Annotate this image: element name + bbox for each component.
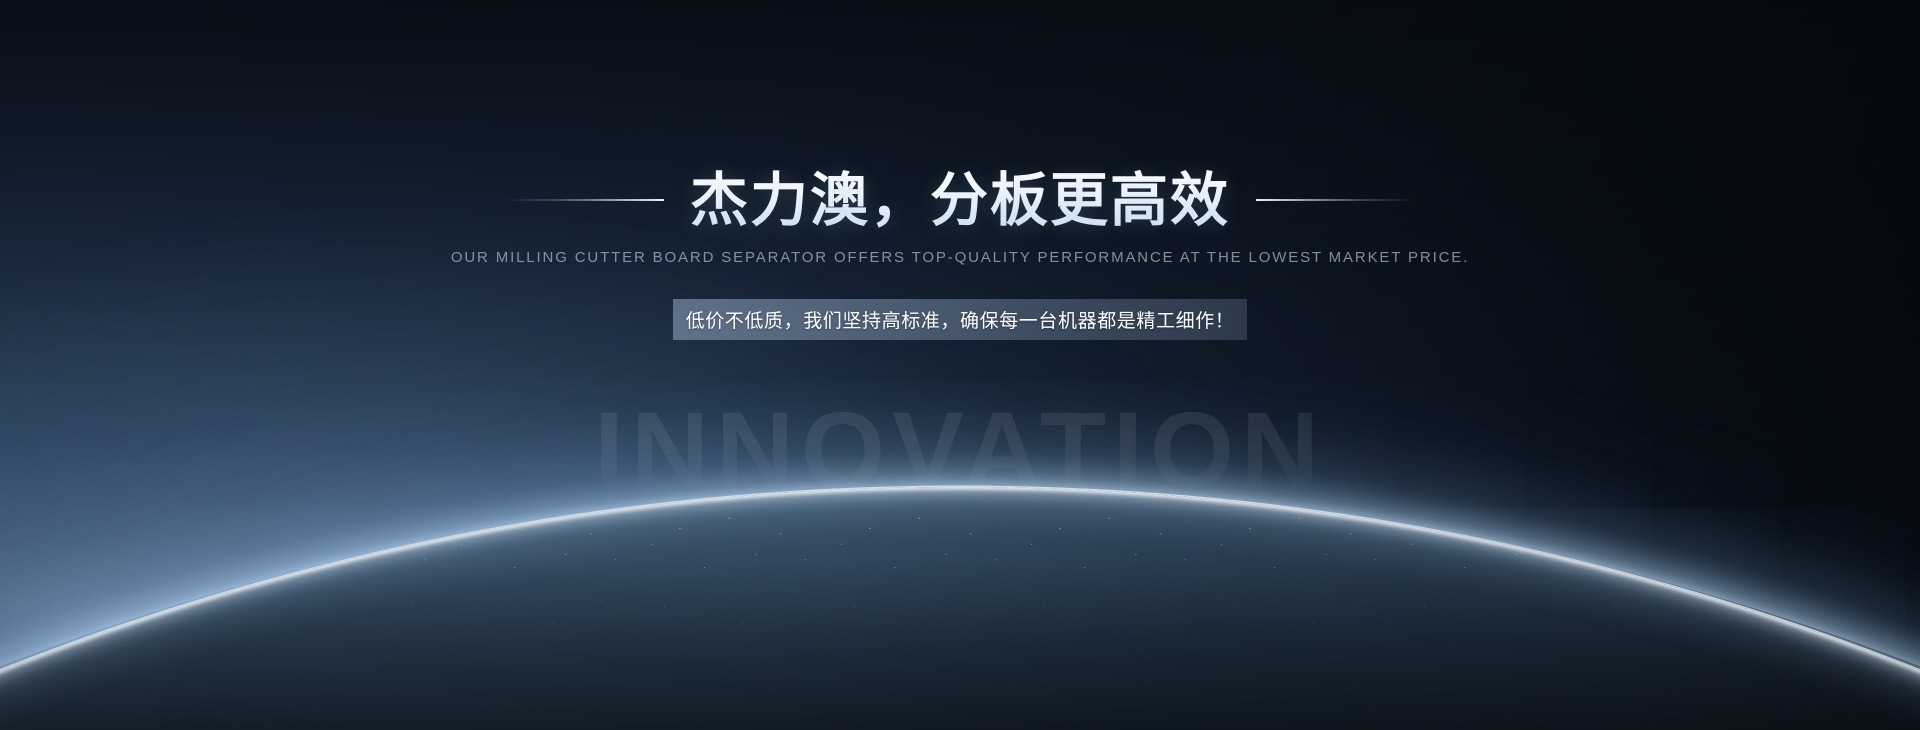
hero-content: 杰力澳，分板更高效 OUR MILLING CUTTER BOARD SEPAR… (0, 0, 1920, 730)
hero-banner: INNOVATION 杰力澳，分板更高效 OUR MILLING CUTTER … (0, 0, 1920, 730)
page-title: 杰力澳，分板更高效 (690, 167, 1230, 234)
hero-subtitle: OUR MILLING CUTTER BOARD SEPARATOR OFFER… (0, 249, 1920, 266)
decorative-line-left (504, 199, 664, 201)
hero-tagline-banner: 低价不低质，我们坚持高标准，确保每一台机器都是精工细作！ (673, 299, 1247, 340)
hero-tagline-row: 低价不低质，我们坚持高标准，确保每一台机器都是精工细作！ (0, 299, 1920, 340)
decorative-line-right (1256, 199, 1416, 201)
